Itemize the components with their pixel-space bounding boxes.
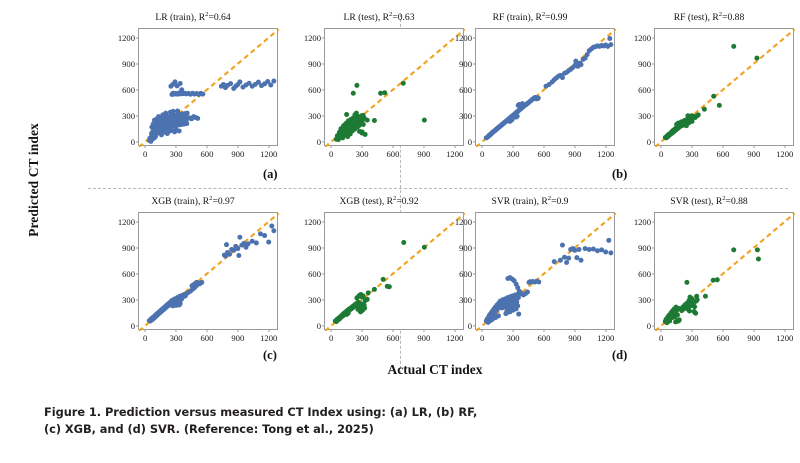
- data-point: [552, 259, 557, 264]
- data-point: [381, 277, 386, 282]
- y-tick-label: 1200: [455, 217, 472, 227]
- data-point: [346, 311, 351, 316]
- data-point: [163, 111, 168, 116]
- x-tick-label: 600: [716, 333, 729, 343]
- data-point: [562, 255, 567, 260]
- data-point: [516, 312, 521, 317]
- data-point: [676, 306, 681, 311]
- y-tick-label: 600: [308, 269, 321, 279]
- data-point-group: [334, 81, 427, 142]
- y-tick-label: 1200: [634, 217, 651, 227]
- data-point: [731, 247, 736, 252]
- data-point: [525, 289, 530, 294]
- y-tick-label: 600: [122, 269, 135, 279]
- data-point: [595, 248, 600, 253]
- figure-container: Predicted CT index LR (train), R2=0.6403…: [0, 0, 800, 463]
- y-tick-label: 300: [122, 295, 135, 305]
- data-point: [702, 107, 707, 112]
- data-point: [574, 255, 579, 260]
- data-point: [711, 94, 716, 99]
- data-point: [684, 280, 689, 285]
- scatter-canvas: [139, 29, 279, 147]
- data-point: [554, 76, 559, 81]
- data-point: [382, 90, 387, 95]
- data-point: [755, 247, 760, 252]
- data-point: [254, 240, 259, 245]
- y-tick-label: 0: [131, 321, 135, 331]
- data-point: [560, 75, 565, 80]
- x-tick-label: 900: [231, 333, 244, 343]
- x-tick-label: 900: [747, 149, 760, 159]
- data-point: [692, 309, 697, 314]
- panel-title-b-left: RF (train), R2=0.99: [437, 12, 623, 23]
- data-point: [246, 241, 251, 246]
- data-point: [262, 233, 267, 238]
- data-point: [351, 91, 356, 96]
- data-point: [363, 298, 368, 303]
- axes-c-left: 0300600900120003006009001200: [138, 212, 278, 330]
- data-point: [236, 253, 241, 258]
- axes-b-left: 0300600900120003006009001200: [475, 28, 615, 146]
- y-tick-label: 600: [122, 85, 135, 95]
- data-point: [235, 246, 240, 251]
- y-tick-label: 1200: [118, 217, 135, 227]
- data-point: [566, 256, 571, 261]
- x-tick-label: 300: [170, 333, 183, 343]
- data-point: [717, 103, 722, 108]
- data-point: [363, 132, 368, 137]
- x-tick-label: 0: [143, 149, 147, 159]
- data-point: [354, 83, 359, 88]
- data-point: [694, 299, 699, 304]
- data-point: [510, 117, 515, 122]
- data-point: [178, 301, 183, 306]
- y-tick-label: 0: [468, 321, 472, 331]
- data-point: [170, 299, 175, 304]
- scatter-panel-d-right: SVR (test), R2=0.88030060090012000300600…: [616, 196, 800, 364]
- plot-area: Predicted CT index LR (train), R2=0.6403…: [0, 0, 800, 390]
- data-point: [224, 242, 229, 247]
- data-point-group: [333, 240, 427, 324]
- data-point-group: [147, 79, 277, 144]
- data-point: [608, 250, 613, 255]
- y-tick-label: 300: [308, 295, 321, 305]
- data-point: [579, 258, 584, 263]
- x-tick-label: 900: [231, 149, 244, 159]
- data-point-group: [663, 44, 760, 141]
- caption-line-2: (c) XGB, and (d) SVR. (Reference: Tong e…: [44, 422, 374, 436]
- x-tick-label: 0: [659, 149, 663, 159]
- data-point: [156, 114, 161, 119]
- data-point: [269, 224, 274, 229]
- data-point: [731, 44, 736, 49]
- y-tick-label: 300: [638, 111, 651, 121]
- data-point: [558, 258, 563, 263]
- y-tick-label: 900: [308, 243, 321, 253]
- y-tick-label: 1200: [304, 217, 321, 227]
- scatter-panel-b-right: RF (test), R2=0.880300600900120003006009…: [616, 12, 800, 180]
- data-point: [359, 116, 364, 121]
- x-tick-label: 1200: [597, 149, 614, 159]
- data-point: [673, 319, 678, 324]
- data-point: [354, 111, 359, 116]
- y-tick-label: 1200: [455, 33, 472, 43]
- y-tick-label: 900: [459, 243, 472, 253]
- data-point: [171, 109, 176, 114]
- quadrant-label-a: (a): [263, 167, 278, 182]
- x-tick-label: 600: [200, 333, 213, 343]
- scatter-canvas: [476, 29, 616, 147]
- y-tick-label: 600: [459, 85, 472, 95]
- data-point: [401, 240, 406, 245]
- data-point: [756, 256, 761, 261]
- data-point: [528, 279, 533, 284]
- y-tick-label: 900: [459, 59, 472, 69]
- scatter-canvas: [139, 213, 279, 331]
- y-tick-label: 1200: [304, 33, 321, 43]
- data-point: [505, 310, 510, 315]
- x-tick-label: 0: [659, 333, 663, 343]
- data-point: [536, 279, 541, 284]
- x-tick-label: 300: [686, 149, 699, 159]
- y-tick-label: 0: [468, 137, 472, 147]
- scatter-panel-d-left: SVR (train), R2=0.9030060090012000300600…: [437, 196, 623, 364]
- data-point: [608, 42, 613, 47]
- x-tick-label: 600: [537, 333, 550, 343]
- data-point-group: [484, 36, 614, 140]
- y-tick-label: 300: [308, 111, 321, 121]
- data-point: [607, 36, 612, 41]
- y-tick-label: 900: [122, 243, 135, 253]
- y-tick-label: 900: [308, 59, 321, 69]
- y-tick-label: 0: [317, 321, 321, 331]
- x-tick-label: 600: [386, 333, 399, 343]
- data-point: [560, 243, 565, 248]
- data-point: [366, 290, 371, 295]
- figure-caption: Figure 1. Prediction versus measured CT …: [44, 404, 704, 438]
- data-point: [362, 306, 367, 311]
- y-tick-label: 600: [638, 269, 651, 279]
- y-tick-label: 300: [459, 295, 472, 305]
- quadrant-label-b: (b): [612, 167, 627, 182]
- data-point: [687, 309, 692, 314]
- data-point: [496, 313, 501, 318]
- identity-reference-line: [476, 213, 616, 331]
- data-point: [341, 133, 346, 138]
- x-tick-label: 900: [417, 149, 430, 159]
- x-tick-label: 900: [568, 149, 581, 159]
- data-point: [572, 248, 577, 253]
- data-point: [199, 280, 204, 285]
- data-point: [501, 121, 506, 126]
- data-point: [200, 92, 205, 97]
- data-point: [692, 304, 697, 309]
- y-tick-label: 300: [638, 295, 651, 305]
- x-tick-label: 300: [507, 333, 520, 343]
- data-point: [227, 252, 232, 257]
- caption-line-1: Figure 1. Prediction versus measured CT …: [44, 405, 477, 419]
- data-point: [271, 79, 276, 84]
- data-point: [515, 303, 520, 308]
- x-axis-label: Actual CT index: [0, 362, 800, 378]
- data-point: [355, 125, 360, 130]
- x-tick-label: 600: [716, 149, 729, 159]
- y-tick-label: 900: [638, 59, 651, 69]
- panel-title-c-left: XGB (train), R2=0.97: [100, 196, 286, 207]
- data-point: [387, 284, 392, 289]
- data-point: [357, 129, 362, 134]
- axes-d-right: 0300600900120003006009001200: [654, 212, 794, 330]
- data-point: [271, 228, 276, 233]
- scatter-canvas: [655, 213, 795, 331]
- data-point: [191, 283, 196, 288]
- y-tick-label: 300: [459, 111, 472, 121]
- data-point: [178, 81, 183, 86]
- data-point: [372, 118, 377, 123]
- data-point: [576, 247, 581, 252]
- data-point: [579, 62, 584, 67]
- x-tick-label: 900: [417, 333, 430, 343]
- data-point: [153, 125, 158, 130]
- data-point: [401, 81, 406, 86]
- y-tick-label: 600: [638, 85, 651, 95]
- y-tick-label: 300: [122, 111, 135, 121]
- data-point: [344, 112, 349, 117]
- data-point: [603, 250, 608, 255]
- panel-title-d-right: SVR (test), R2=0.88: [616, 196, 800, 207]
- data-point-group: [484, 238, 614, 325]
- data-point-group: [663, 247, 761, 325]
- scatter-canvas: [655, 29, 795, 147]
- quadrant-label-d: (d): [612, 348, 627, 363]
- data-point: [684, 123, 689, 128]
- x-tick-label: 600: [386, 149, 399, 159]
- x-tick-label: 300: [686, 333, 699, 343]
- data-point: [361, 122, 366, 127]
- y-tick-label: 600: [459, 269, 472, 279]
- x-tick-label: 1200: [597, 333, 614, 343]
- data-point: [564, 260, 569, 265]
- x-tick-label: 1200: [776, 149, 793, 159]
- data-point: [268, 82, 273, 87]
- data-point: [536, 95, 541, 100]
- x-tick-label: 300: [170, 149, 183, 159]
- y-tick-label: 900: [122, 59, 135, 69]
- data-point: [343, 122, 348, 127]
- data-point: [520, 101, 525, 106]
- x-tick-label: 1200: [776, 333, 793, 343]
- data-point: [715, 277, 720, 282]
- data-point: [693, 115, 698, 120]
- data-point: [754, 56, 759, 61]
- y-tick-label: 0: [317, 137, 321, 147]
- x-tick-label: 0: [143, 333, 147, 343]
- x-tick-label: 900: [568, 333, 581, 343]
- y-tick-label: 0: [131, 137, 135, 147]
- scatter-panel-c-left: XGB (train), R2=0.9703006009001200030060…: [100, 196, 286, 364]
- data-point: [184, 121, 189, 126]
- scatter-panel-b-left: RF (train), R2=0.99030060090012000300600…: [437, 12, 623, 180]
- data-point: [689, 300, 694, 305]
- data-point: [703, 294, 708, 299]
- x-tick-label: 600: [537, 149, 550, 159]
- data-point: [422, 118, 427, 123]
- data-point: [365, 118, 370, 123]
- data-point-group: [147, 224, 277, 324]
- x-tick-label: 0: [329, 333, 333, 343]
- data-point: [606, 238, 611, 243]
- x-tick-label: 600: [200, 149, 213, 159]
- y-tick-label: 1200: [634, 33, 651, 43]
- axes-a-left: 0300600900120003006009001200: [138, 28, 278, 146]
- data-point: [237, 235, 242, 240]
- scatter-canvas: [476, 213, 616, 331]
- data-point: [583, 246, 588, 251]
- panel-title-d-left: SVR (train), R2=0.9: [437, 196, 623, 207]
- x-tick-label: 0: [480, 149, 484, 159]
- data-point: [177, 128, 182, 133]
- x-tick-label: 300: [356, 149, 369, 159]
- axes-b-right: 0300600900120003006009001200: [654, 28, 794, 146]
- y-tick-label: 900: [638, 243, 651, 253]
- x-tick-label: 900: [747, 333, 760, 343]
- x-tick-label: 300: [507, 149, 520, 159]
- data-point: [228, 81, 233, 86]
- data-point: [675, 312, 680, 317]
- scatter-panel-a-left: LR (train), R2=0.64030060090012000300600…: [100, 12, 286, 180]
- data-point: [237, 79, 242, 84]
- y-tick-label: 0: [647, 137, 651, 147]
- quadrant-label-c: (c): [263, 348, 277, 363]
- data-point: [266, 240, 271, 245]
- x-tick-label: 0: [480, 333, 484, 343]
- x-tick-label: 300: [356, 333, 369, 343]
- data-point: [515, 114, 520, 119]
- panel-title-a-left: LR (train), R2=0.64: [100, 12, 286, 23]
- y-tick-label: 1200: [118, 33, 135, 43]
- data-point: [422, 245, 427, 250]
- data-point: [685, 113, 690, 118]
- data-point: [175, 108, 180, 113]
- data-point: [185, 111, 190, 116]
- x-tick-label: 1200: [260, 333, 277, 343]
- y-axis-label: Predicted CT index: [26, 100, 42, 260]
- y-tick-label: 0: [647, 321, 651, 331]
- x-tick-label: 0: [329, 149, 333, 159]
- axes-d-left: 0300600900120003006009001200: [475, 212, 615, 330]
- x-tick-label: 1200: [260, 149, 277, 159]
- data-point: [497, 304, 502, 309]
- row-divider: [88, 188, 788, 189]
- data-point: [195, 116, 200, 121]
- data-point: [687, 119, 692, 124]
- y-tick-label: 600: [308, 85, 321, 95]
- panel-title-b-right: RF (test), R2=0.88: [616, 12, 800, 23]
- data-point: [372, 287, 377, 292]
